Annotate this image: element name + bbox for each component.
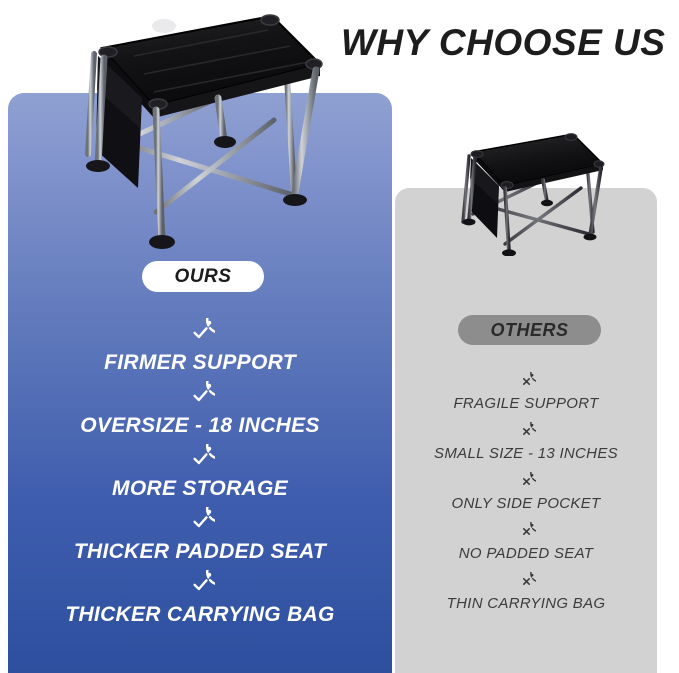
feature-label: OVERSIZE - 18 INCHES [80, 414, 319, 438]
list-item: OVERSIZE - 18 INCHES [8, 381, 392, 438]
ours-product-image [58, 2, 324, 254]
list-item: ONLY SIDE POCKET [395, 472, 657, 512]
cross-circle-icon [517, 472, 536, 491]
feature-label: FRAGILE SUPPORT [453, 395, 598, 412]
feature-label: FIRMER SUPPORT [104, 351, 296, 375]
feature-label: THICKER PADDED SEAT [74, 540, 326, 564]
feature-label: THICKER CARRYING BAG [65, 603, 334, 627]
list-item: FIRMER SUPPORT [8, 318, 392, 375]
check-circle-icon [186, 318, 215, 347]
cross-circle-icon [517, 422, 536, 441]
list-item: NO PADDED SEAT [395, 522, 657, 562]
feature-label: ONLY SIDE POCKET [451, 495, 600, 512]
check-circle-icon [186, 444, 215, 473]
cross-circle-icon [517, 572, 536, 591]
cross-circle-icon [517, 372, 536, 391]
others-badge: OTHERS [458, 315, 601, 345]
feature-label: NO PADDED SEAT [459, 545, 594, 562]
list-item: THICKER PADDED SEAT [8, 507, 392, 564]
ours-badge: OURS [142, 261, 264, 292]
others-product-image [447, 128, 607, 256]
list-item: FRAGILE SUPPORT [395, 372, 657, 412]
list-item: THICKER CARRYING BAG [8, 570, 392, 627]
feature-label: MORE STORAGE [112, 477, 288, 501]
check-circle-icon [186, 381, 215, 410]
page-title: WHY CHOOSE US [341, 22, 665, 64]
others-feature-list: FRAGILE SUPPORT SMALL SIZE - 13 INCHES O… [395, 372, 657, 622]
check-circle-icon [186, 570, 215, 599]
feature-label: THIN CARRYING BAG [447, 595, 606, 612]
cross-circle-icon [517, 522, 536, 541]
infographic-canvas: WHY CHOOSE US OURS OTHERS FIRMER SUPPORT… [0, 0, 679, 673]
check-circle-icon [186, 507, 215, 536]
ours-feature-list: FIRMER SUPPORT OVERSIZE - 18 INCHES MORE… [8, 318, 392, 633]
feature-label: SMALL SIZE - 13 INCHES [434, 445, 618, 462]
list-item: THIN CARRYING BAG [395, 572, 657, 612]
list-item: MORE STORAGE [8, 444, 392, 501]
list-item: SMALL SIZE - 13 INCHES [395, 422, 657, 462]
